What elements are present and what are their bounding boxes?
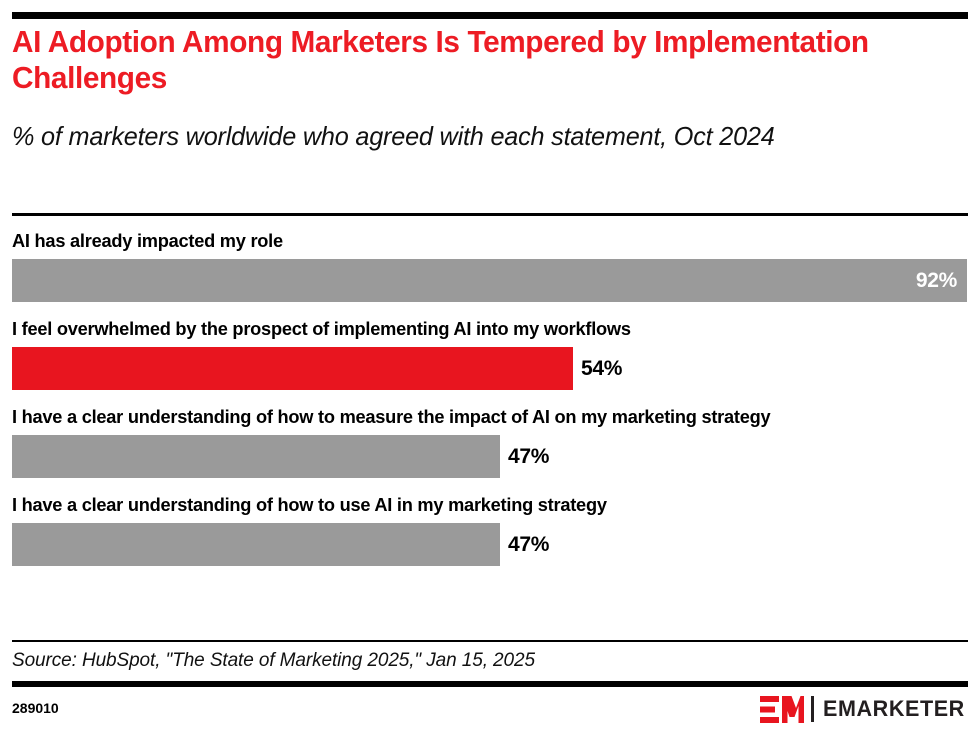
- bar-category-label: I have a clear understanding of how to u…: [12, 492, 954, 517]
- bar-row: 54%: [12, 347, 968, 390]
- bar-row: 92%: [12, 259, 968, 302]
- page-title: AI Adoption Among Marketers Is Tempered …: [12, 24, 876, 96]
- bar-value-label: 47%: [508, 435, 549, 478]
- emarketer-logo: EMARKETER: [760, 695, 968, 723]
- bar[interactable]: 92%: [12, 259, 967, 302]
- bar-value-label: 47%: [508, 523, 549, 566]
- bar[interactable]: [12, 435, 500, 478]
- bar[interactable]: [12, 347, 573, 390]
- bar-group: I have a clear understanding of how to m…: [12, 404, 968, 478]
- header-divider: [12, 213, 968, 216]
- bar-category-label: AI has already impacted my role: [12, 228, 954, 253]
- chart-id: 289010: [12, 700, 59, 716]
- bar-category-label: I have a clear understanding of how to m…: [12, 404, 954, 429]
- source-top-divider: [12, 640, 968, 642]
- bar-group: I have a clear understanding of how to u…: [12, 492, 968, 566]
- footer-rule: [12, 681, 968, 687]
- bar-group: I feel overwhelmed by the prospect of im…: [12, 316, 968, 390]
- top-rule: [12, 12, 968, 19]
- bar-value-label: 92%: [916, 259, 957, 302]
- chart-container: AI Adoption Among Marketers Is Tempered …: [0, 0, 980, 738]
- bar-row: 47%: [12, 523, 968, 566]
- bar-value-label: 54%: [581, 347, 622, 390]
- bar[interactable]: [12, 523, 500, 566]
- bar-chart-plot: AI has already impacted my role92%I feel…: [12, 228, 968, 580]
- brand-name: EMARKETER: [823, 696, 965, 722]
- source-note: Source: HubSpot, "The State of Marketing…: [12, 650, 535, 672]
- bar-category-label: I feel overwhelmed by the prospect of im…: [12, 316, 954, 341]
- bar-row: 47%: [12, 435, 968, 478]
- chart-subtitle: % of marketers worldwide who agreed with…: [12, 120, 885, 153]
- logo-divider: [811, 696, 814, 722]
- bar-group: AI has already impacted my role92%: [12, 228, 968, 302]
- em-monogram-icon: [760, 696, 804, 723]
